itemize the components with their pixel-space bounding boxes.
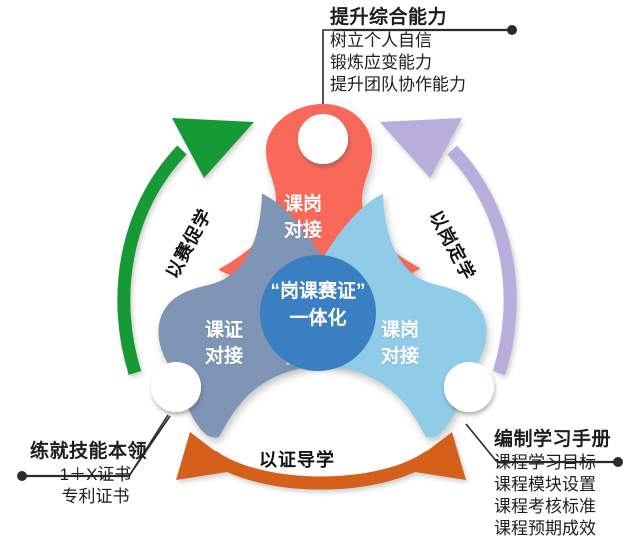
callout-bottom-right-item-3: 课程考核标准 xyxy=(494,496,611,518)
diagram-canvas: 课岗 对接 课证 对接 课岗 对接 “岗课赛证” 一体化 以赛促学 以岗定学 以… xyxy=(0,0,634,559)
segment-bottom-right-label: 课岗 对接 xyxy=(381,318,419,370)
callout-bottom-right-item-2: 课程模块设置 xyxy=(494,474,611,496)
callout-bottom-right: 编制学习手册 课程学习目标 课程模块设置 课程考核标准 课程预期成效 xyxy=(494,428,611,540)
segment-top-line1: 课岗 xyxy=(284,192,322,218)
segment-bottom-left-label: 课证 对接 xyxy=(205,318,243,370)
callout-top-item-3: 提升团队协作能力 xyxy=(330,74,466,96)
callout-bottom-left: 练就技能本领 1＋X证书 专利证书 xyxy=(18,440,147,508)
callout-top-item-2: 锻炼应变能力 xyxy=(330,52,466,74)
center-circle-label: “岗课赛证” 一体化 xyxy=(263,278,373,332)
segment-bottom-right-line2: 对接 xyxy=(381,344,419,370)
callout-top: 提升综合能力 树立个人自信 锻炼应变能力 提升团队协作能力 xyxy=(330,6,466,96)
segment-bottom-left-line1: 课证 xyxy=(205,318,243,344)
callout-bottom-left-heading: 练就技能本领 xyxy=(18,440,147,464)
center-line2: 一体化 xyxy=(263,305,373,332)
callout-bottom-right-item-1: 课程学习目标 xyxy=(494,452,611,474)
segment-top-line2: 对接 xyxy=(284,218,322,244)
callout-bottom-left-item-1: 1＋X证书 xyxy=(18,464,147,486)
segment-top-label: 课岗 对接 xyxy=(284,192,322,244)
callout-top-item-1: 树立个人自信 xyxy=(330,30,466,52)
callout-top-heading: 提升综合能力 xyxy=(330,6,466,30)
callout-bottom-right-heading: 编制学习手册 xyxy=(494,428,611,452)
segment-bottom-left-line2: 对接 xyxy=(205,344,243,370)
center-line1: “岗课赛证” xyxy=(263,278,373,305)
bottom-arrow-label: 以证导学 xyxy=(259,446,335,472)
callout-bottom-left-item-2: 专利证书 xyxy=(18,486,147,508)
callout-bottom-right-item-4: 课程预期成效 xyxy=(494,518,611,540)
segment-bottom-right-line1: 课岗 xyxy=(381,318,419,344)
